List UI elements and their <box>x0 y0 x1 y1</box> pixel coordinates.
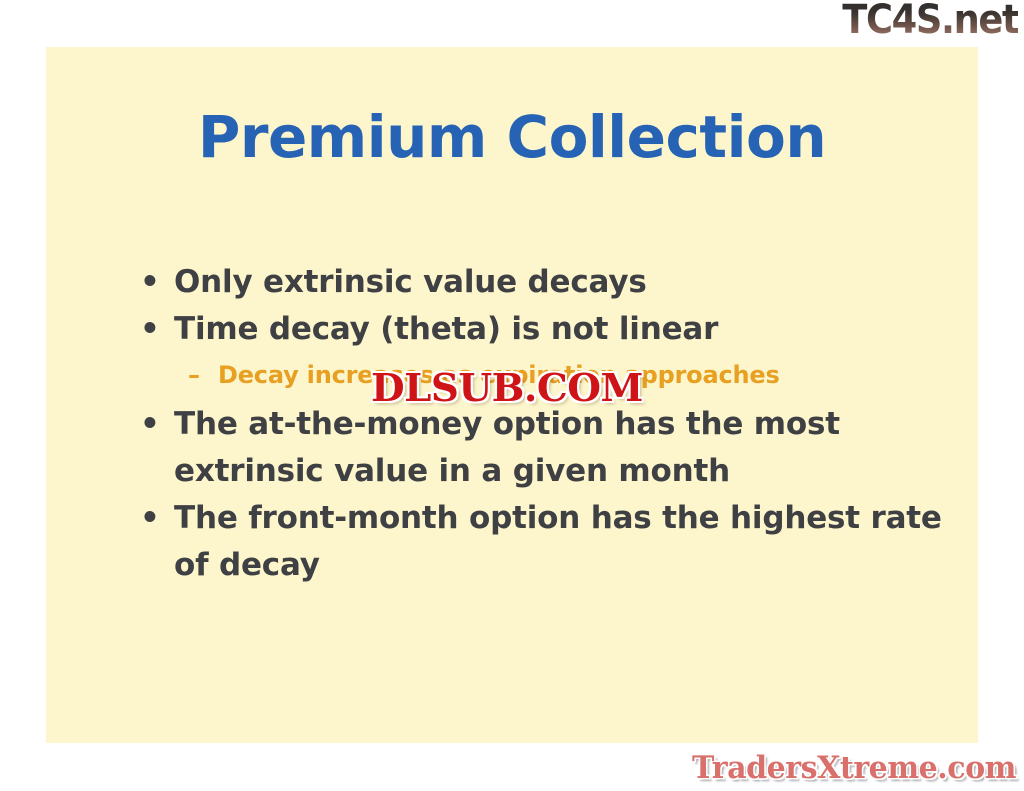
tc4s-site-logo: TC4S.net <box>842 0 1018 42</box>
slide-panel: Premium Collection • Only extrinsic valu… <box>46 47 978 743</box>
list-item-label: The front-month option has the highest r… <box>174 500 942 583</box>
sub-list-item: – Decay increases as expiration approach… <box>90 353 978 397</box>
list-item-label: Time decay (theta) is not linear <box>174 311 718 347</box>
list-item-label: Only extrinsic value decays <box>174 264 647 300</box>
tradersxtreme-logo: TradersXtreme.com <box>692 749 1016 787</box>
sub-list-item-label: Decay increases as expiration approaches <box>218 361 780 389</box>
list-item: • Only extrinsic value decays <box>90 259 978 306</box>
slide-stage: TC4S.net Premium Collection • Only extri… <box>0 0 1024 791</box>
list-item-label: The at-the-money option has the most ext… <box>174 406 840 489</box>
page-title: Premium Collection <box>46 105 978 169</box>
bullet-dot-icon: • <box>140 306 164 353</box>
list-item: • Time decay (theta) is not linear <box>90 306 978 353</box>
list-item: • The at-the-money option has the most e… <box>90 401 978 495</box>
bullet-dot-icon: • <box>140 259 164 306</box>
bullet-dash-icon: – <box>188 353 212 397</box>
slide-body: • Only extrinsic value decays • Time dec… <box>90 259 978 589</box>
list-item: • The front-month option has the highest… <box>90 495 978 589</box>
bullet-dot-icon: • <box>140 401 164 448</box>
bullet-dot-icon: • <box>140 495 164 542</box>
